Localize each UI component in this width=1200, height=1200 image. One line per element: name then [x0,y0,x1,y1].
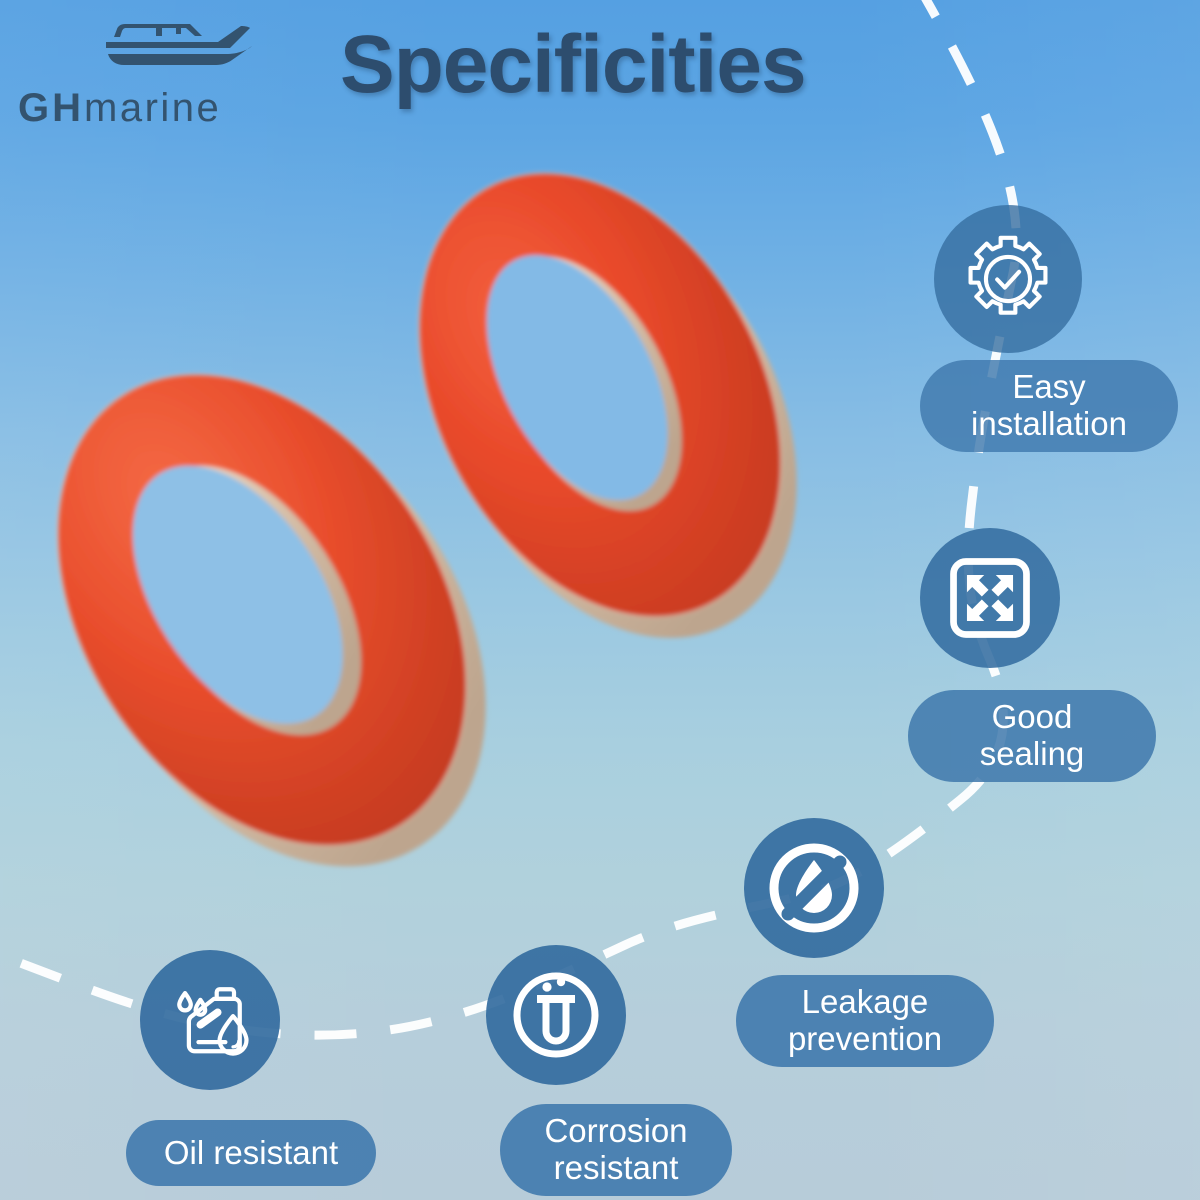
no-water-drop-icon [744,818,884,958]
logo-wordmark: GHmarine [18,88,221,128]
feature-label-leakage-prevention: Leakage prevention [736,975,994,1067]
product-infographic-poster: GHmarine Specificities Easy installation [0,0,1200,1200]
boat-icon [90,14,280,76]
feature-label-good-sealing: Good sealing [908,690,1156,782]
test-tube-icon [486,945,626,1085]
logo-text-marine: marine [84,86,221,130]
feature-label-easy-installation: Easy installation [920,360,1178,452]
feature-label-oil-resistant: Oil resistant [126,1120,376,1186]
gear-check-icon [934,205,1082,353]
oil-canister-icon [140,950,280,1090]
expand-arrows-icon [920,528,1060,668]
page-title: Specificities [340,18,806,112]
logo-text-gh: GH [18,86,84,130]
product-image-washers [40,150,830,910]
feature-label-corrosion-resistant: Corrosion resistant [500,1104,732,1196]
brand-logo: GHmarine [18,14,318,120]
